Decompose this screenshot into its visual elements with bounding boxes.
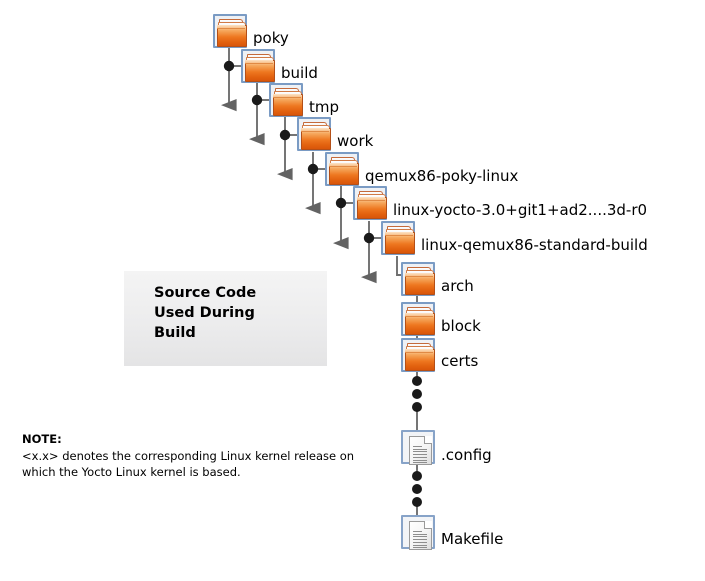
source-code-callout-label: Source Code Used During Build: [154, 283, 256, 343]
folder-icon-lyocto[interactable]: [353, 186, 387, 220]
node-label-makefile: Makefile: [441, 532, 503, 547]
folder-icon-poky[interactable]: [213, 14, 247, 48]
node-label-block: block: [441, 319, 481, 334]
folder-icon-tmp[interactable]: [269, 83, 303, 117]
connector-lines: [0, 0, 705, 581]
node-label-qemux86: qemux86-poky-linux: [365, 169, 518, 184]
junction-dot: [308, 164, 318, 174]
folder-icon-lqemux[interactable]: [381, 221, 415, 255]
folder-icon-certs[interactable]: [401, 338, 435, 372]
note-body: <x.x> denotes the corresponding Linux ke…: [22, 448, 354, 480]
junction-dot: [224, 61, 234, 71]
diagram-canvas: pokybuildtmpworkqemux86-poky-linuxlinux-…: [0, 0, 705, 581]
node-label-work: work: [337, 134, 373, 149]
node-label-arch: arch: [441, 279, 474, 294]
junction-dot: [280, 130, 290, 140]
file-icon-makefile[interactable]: [401, 515, 435, 549]
node-label-tmp: tmp: [309, 100, 339, 115]
junction-dot: [252, 95, 262, 105]
node-label-lyocto: linux-yocto-3.0+git1+ad2....3d-r0: [393, 203, 647, 218]
node-label-config: .config: [441, 448, 492, 463]
node-label-lqemux: linux-qemux86-standard-build: [421, 238, 648, 253]
junction-dot: [336, 198, 346, 208]
node-label-certs: certs: [441, 354, 478, 369]
folder-icon-block[interactable]: [401, 302, 435, 336]
junction-dot: [364, 233, 374, 243]
node-label-build: build: [281, 66, 318, 81]
file-icon-config[interactable]: [401, 430, 435, 464]
node-label-poky: poky: [253, 31, 289, 46]
folder-icon-work[interactable]: [297, 117, 331, 151]
folder-icon-build[interactable]: [241, 49, 275, 83]
note-title: NOTE:: [22, 432, 62, 446]
folder-icon-qemux86[interactable]: [325, 152, 359, 186]
folder-icon-arch[interactable]: [401, 262, 435, 296]
